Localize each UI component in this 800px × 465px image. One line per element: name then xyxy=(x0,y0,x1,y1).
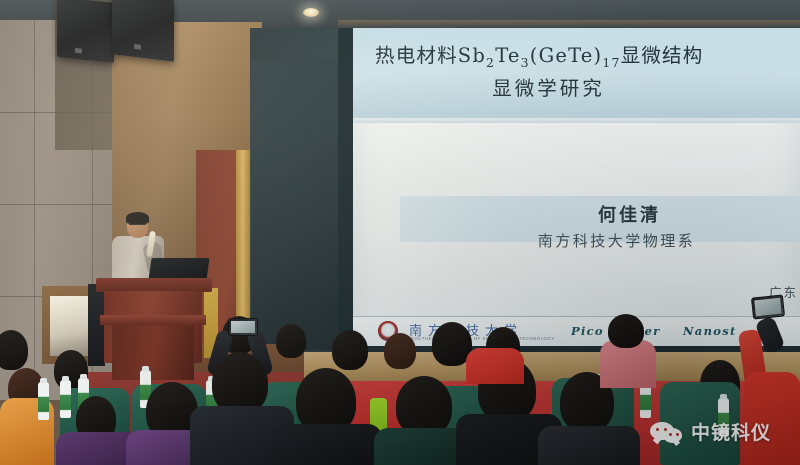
dark-wall-panel-inner xyxy=(251,60,346,350)
slide-affiliation: 南方科技大学物理系 xyxy=(353,230,800,251)
glasses-icon xyxy=(129,224,146,228)
slide-header-rule xyxy=(353,118,800,123)
audience-torso-red xyxy=(466,348,524,384)
projected-slide: 热电材料Sb2Te3(GeTe)17显微结构 显微学研究 何佳清 南方科技大学物… xyxy=(353,28,800,346)
audience-head xyxy=(212,352,268,414)
water-bottle-icon xyxy=(60,380,71,418)
smartphone-camera-icon xyxy=(228,318,258,336)
audience-torso-dark xyxy=(538,426,640,465)
audience-head xyxy=(0,330,28,370)
podium-laptop xyxy=(148,258,209,280)
audience-torso-dark xyxy=(272,424,382,465)
slide-title-line1: 热电材料Sb2Te3(GeTe)17显微结构 xyxy=(361,42,800,72)
nanostructure-logo: Nanost xyxy=(683,324,737,338)
conference-photo: 热电材料Sb2Te3(GeTe)17显微结构 显微学研究 何佳清 南方科技大学物… xyxy=(0,0,800,465)
audience-head xyxy=(384,333,416,369)
audience-head xyxy=(276,324,306,358)
loudspeaker-icon xyxy=(112,0,174,62)
podium-top xyxy=(96,278,212,292)
slide-speaker-name: 何佳清 xyxy=(353,201,800,227)
water-bottle-icon xyxy=(38,382,49,420)
slide-logo-strip: 南方科技大学 SOUTHERN UNIVERSITY OF SCIENCE AN… xyxy=(353,316,800,346)
smartphone-camera-icon xyxy=(751,294,785,319)
presenter-hair xyxy=(126,212,149,224)
audience-head xyxy=(332,330,368,370)
audience-head xyxy=(396,376,452,436)
slide-title-line2: 显微学研究 xyxy=(353,72,800,101)
wechat-icon xyxy=(650,420,684,444)
audience-head xyxy=(608,314,644,348)
watermark: 中镜科仪 xyxy=(650,418,771,445)
podium-base xyxy=(112,325,194,380)
projection-screen-top-rail xyxy=(338,20,800,28)
podium-lip xyxy=(100,315,206,325)
loudspeaker-icon xyxy=(57,0,114,63)
podium-side-post xyxy=(88,284,105,366)
downlight-icon xyxy=(303,8,319,17)
watermark-text: 中镜科仪 xyxy=(691,418,771,445)
